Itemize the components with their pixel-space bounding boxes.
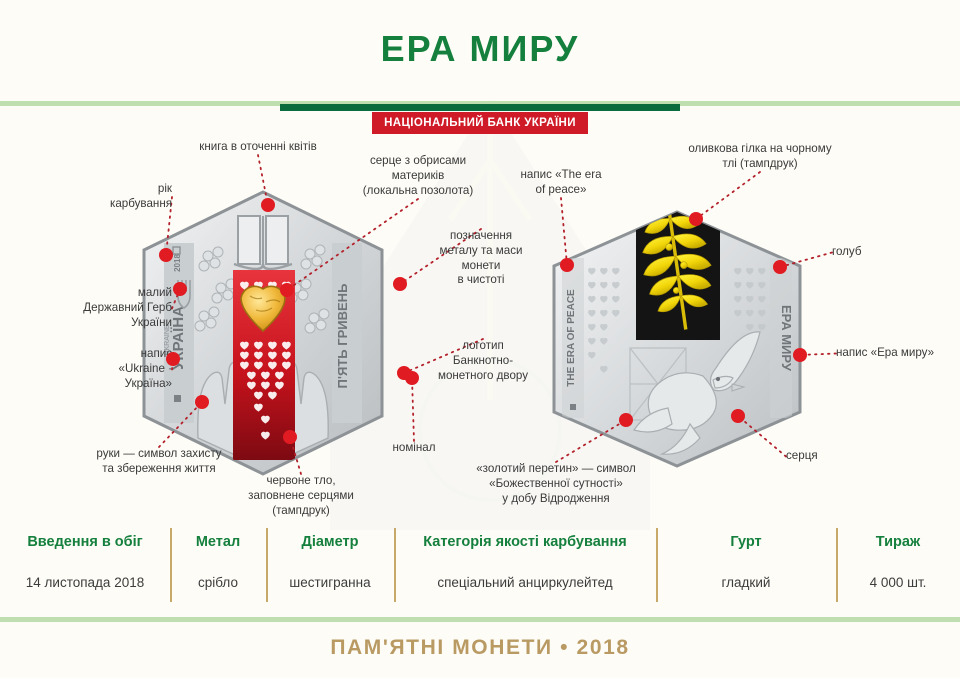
callout-marker-year-of-minting: [159, 248, 173, 262]
table-value: 4 000 шт.: [870, 575, 927, 590]
callout-marker-era-of-peace-ua: [793, 348, 807, 362]
callout-marker-hearts: [731, 409, 745, 423]
table-value: спеціальний анциркулейтед: [437, 575, 612, 590]
callout-marker-face-value: [405, 371, 419, 385]
specifications-table: Введення в обіг14 листопада 2018Металсрі…: [0, 528, 960, 602]
callout-label-olive-branch: оливкова гілка на чорному тлі (тампдрук): [672, 142, 848, 172]
svg-text:2018: 2018: [173, 254, 182, 272]
callout-marker-metal-and-mass: [393, 277, 407, 291]
callout-marker-hands-symbol: [195, 395, 209, 409]
table-value: шестигранна: [289, 575, 370, 590]
table-header: Категорія якості карбування: [423, 534, 627, 550]
table-header: Тираж: [876, 534, 920, 550]
bank-banner: НАЦІОНАЛЬНИЙ БАНК УКРАЇНИ: [372, 112, 588, 134]
infographic-root: ЕРА МИРУ НАЦІОНАЛЬНИЙ БАНК УКРАЇНИ: [0, 0, 960, 678]
callout-label-the-era-of-peace: напис «The era of peace»: [506, 168, 616, 198]
callout-label-dove: голуб: [832, 245, 888, 260]
callout-label-year-of-minting: рік карбування: [60, 182, 172, 212]
callout-label-hearts: серця: [786, 449, 834, 464]
callout-marker-olive-branch: [689, 212, 703, 226]
coin-obverse: УКРАЇНА UKRAINE П'ЯТЬ ГРИВЕНЬ 2018: [138, 188, 388, 478]
table-column: Категорія якості карбуванняспеціальний а…: [394, 528, 656, 602]
callout-label-heart-continents: серце з обрисами материків (локальна поз…: [338, 154, 498, 198]
callout-marker-book-in-flowers: [261, 198, 275, 212]
svg-text:ЕРА МИРУ: ЕРА МИРУ: [779, 305, 794, 372]
table-value: гладкий: [722, 575, 771, 590]
callout-label-face-value: номінал: [383, 441, 445, 456]
coin-reverse: THE ERA OF PEACE ЕРА МИРУ: [548, 208, 806, 470]
table-column: Введення в обіг14 листопада 2018: [0, 528, 170, 602]
green-accent-bar: [280, 104, 680, 111]
table-value: 14 листопада 2018: [26, 575, 144, 590]
callout-label-ukraine-inscription: напис «Ukraine · Україна»: [42, 347, 172, 391]
callout-label-hands-symbol: руки — символ захисту та збереження житт…: [50, 447, 268, 477]
svg-text:THE ERA OF PEACE: THE ERA OF PEACE: [566, 289, 577, 387]
page-title: ЕРА МИРУ: [0, 28, 960, 70]
callout-marker-dove: [773, 260, 787, 274]
table-column: Тираж4 000 шт.: [836, 528, 960, 602]
svg-text:П'ЯТЬ ГРИВЕНЬ: П'ЯТЬ ГРИВЕНЬ: [335, 284, 350, 389]
callout-label-golden-ratio: «золотий перетин» — символ «Божественної…: [466, 462, 646, 506]
callout-label-mint-logo: логотип Банкнотно- монетного двору: [420, 339, 546, 383]
callout-label-metal-and-mass: позначення металу та маси монети в чисто…: [420, 229, 542, 288]
table-column: Металсрібло: [170, 528, 266, 602]
callout-label-red-background: червоне тло, заповнене серцями (тампдрук…: [228, 474, 374, 518]
callout-label-era-of-peace-ua: напис «Ера миру»: [836, 346, 948, 361]
callout-marker-golden-ratio: [619, 413, 633, 427]
callout-marker-ukraine-inscription: [166, 352, 180, 366]
callout-marker-heart-continents: [280, 283, 294, 297]
footer-text: ПАМ'ЯТНІ МОНЕТИ • 2018: [0, 636, 960, 660]
table-column: Діаметршестигранна: [266, 528, 394, 602]
table-column: Гуртгладкий: [656, 528, 836, 602]
table-header: Гурт: [730, 534, 761, 550]
callout-marker-small-coat-of-arms: [173, 282, 187, 296]
callout-marker-red-background: [283, 430, 297, 444]
divider-bottom: [0, 617, 960, 622]
table-value: срібло: [198, 575, 238, 590]
callout-label-book-in-flowers: книга в оточенні квітів: [178, 140, 338, 155]
table-header: Діаметр: [302, 534, 359, 550]
table-header: Метал: [196, 534, 240, 550]
callout-marker-the-era-of-peace: [560, 258, 574, 272]
table-header: Введення в обіг: [27, 534, 142, 550]
callout-label-small-coat-of-arms: малий Державний Герб України: [18, 286, 172, 330]
